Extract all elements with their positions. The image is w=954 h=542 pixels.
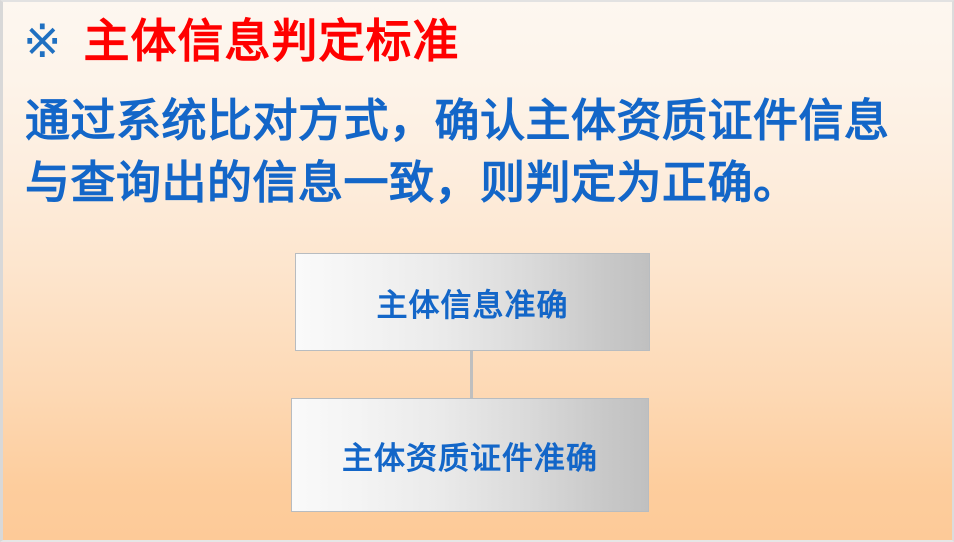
slide-canvas: ※ 主体信息判定标准 通过系统比对方式，确认主体资质证件信息 与查询出的信息一致… bbox=[0, 0, 954, 542]
flow-box-label: 主体资质证件准确 bbox=[342, 433, 598, 478]
page-title-text: 主体信息判定标准 bbox=[84, 18, 460, 64]
flow-box-main-info-accurate[interactable]: 主体信息准确 bbox=[295, 253, 650, 351]
flow-box-label: 主体信息准确 bbox=[377, 280, 569, 325]
flow-box-qualification-doc-accurate[interactable]: 主体资质证件准确 bbox=[291, 398, 649, 512]
flow-connector-line bbox=[470, 351, 473, 398]
body-line-1: 通过系统比对方式，确认主体资质证件信息 bbox=[25, 90, 935, 152]
reference-mark-icon: ※ bbox=[23, 18, 62, 64]
body-paragraph: 通过系统比对方式，确认主体资质证件信息 与查询出的信息一致，则判定为正确。 bbox=[25, 90, 935, 214]
page-title: ※ 主体信息判定标准 bbox=[23, 18, 460, 64]
body-line-2: 与查询出的信息一致，则判定为正确。 bbox=[25, 152, 935, 214]
flow-diagram: 主体信息准确 主体资质证件准确 bbox=[3, 2, 954, 542]
